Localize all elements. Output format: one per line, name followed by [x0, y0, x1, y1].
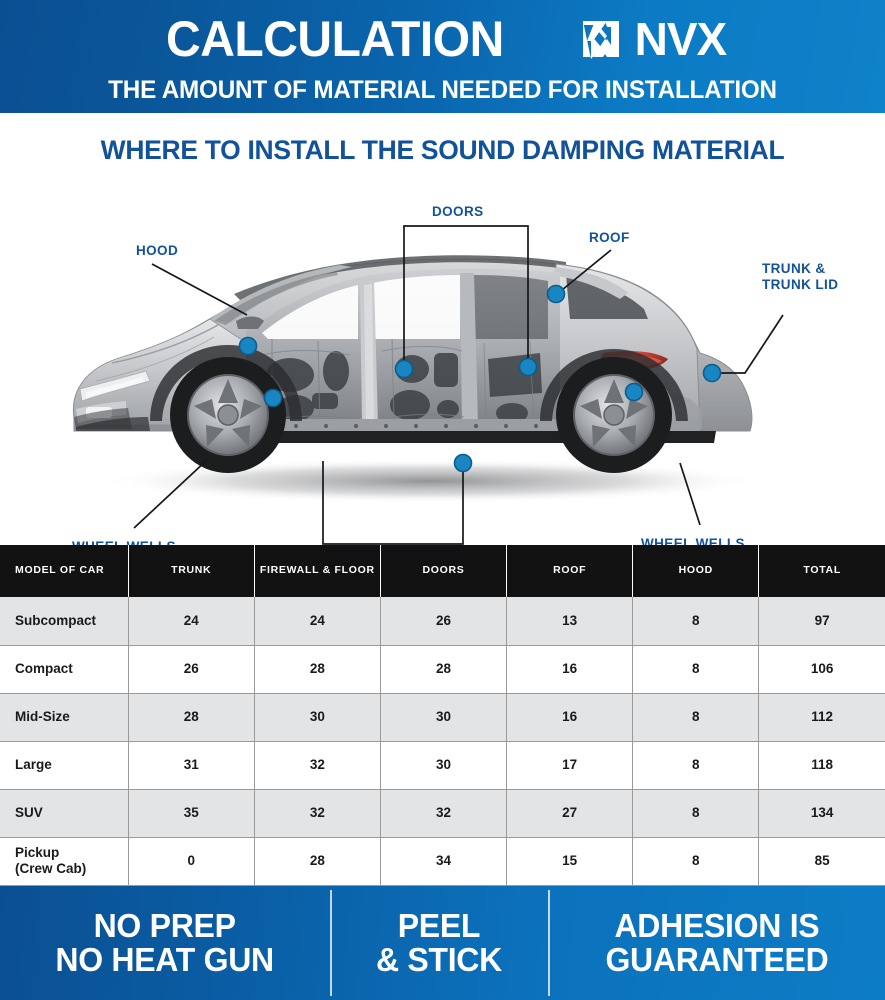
front-wheel	[170, 357, 286, 473]
dot-firewall-floor	[455, 455, 472, 472]
table-row: Pickup (Crew Cab) 0 28 34 15 8 85	[0, 837, 885, 885]
cell-total: 97	[759, 597, 885, 645]
cell-doors: 26	[380, 597, 506, 645]
cell-roof: 16	[507, 693, 633, 741]
brand-name: NVX	[635, 16, 727, 62]
table-row: Compact 26 28 28 16 8 106	[0, 645, 885, 693]
cell-roof: 16	[507, 645, 633, 693]
cell-trunk: 26	[128, 645, 254, 693]
cell-model: Large	[0, 741, 128, 789]
col-header-firewall-floor: FIREWALL & FLOOR	[254, 545, 380, 597]
footer-text: PEEL & STICK	[376, 909, 502, 978]
col-header-trunk: TRUNK	[128, 545, 254, 597]
infographic-page: CALCULATION NVX THE AMOUNT OF MATERIAL N…	[0, 0, 885, 1000]
cell-model: Pickup (Crew Cab)	[0, 837, 128, 885]
table-body: Subcompact 24 24 26 13 8 97 Compact 26 2…	[0, 597, 885, 885]
col-header-roof: ROOF	[507, 545, 633, 597]
car-body	[73, 255, 752, 473]
section-title: WHERE TO INSTALL THE SOUND DAMPING MATER…	[9, 135, 876, 166]
page-title: CALCULATION	[166, 14, 504, 64]
cell-model: Compact	[0, 645, 128, 693]
rear-wheel	[556, 357, 672, 473]
dot-wheelwell-rear	[626, 384, 643, 401]
cell-firewall-floor: 28	[254, 837, 380, 885]
footer-cell-peel-stick: PEEL & STICK	[330, 886, 548, 1000]
dot-trunk	[704, 365, 721, 382]
col-header-model: MODEL OF CAR	[0, 545, 128, 597]
cell-model: Subcompact	[0, 597, 128, 645]
col-header-doors: DOORS	[380, 545, 506, 597]
callout-label-roof: ROOF	[589, 230, 630, 246]
header-banner: CALCULATION NVX THE AMOUNT OF MATERIAL N…	[0, 0, 885, 113]
header-title-row: CALCULATION NVX	[0, 8, 885, 70]
footer-banner: NO PREP NO HEAT GUN PEEL & STICK ADHESIO…	[0, 886, 885, 1000]
table-header: MODEL OF CAR TRUNK FIREWALL & FLOOR DOOR…	[0, 545, 885, 597]
table-row: Large 31 32 30 17 8 118	[0, 741, 885, 789]
header-subtitle: THE AMOUNT OF MATERIAL NEEDED FOR INSTAL…	[13, 76, 871, 105]
callout-label-hood: HOOD	[136, 243, 178, 259]
table-row: SUV 35 32 32 27 8 134	[0, 789, 885, 837]
dot-door-rear	[520, 359, 537, 376]
cell-doors: 32	[380, 789, 506, 837]
cell-hood: 8	[633, 837, 759, 885]
cell-firewall-floor: 32	[254, 741, 380, 789]
ground-shadow	[100, 459, 760, 503]
leader-trunk	[718, 315, 783, 373]
cell-hood: 8	[633, 645, 759, 693]
cell-roof: 15	[507, 837, 633, 885]
cell-firewall-floor: 32	[254, 789, 380, 837]
table-row: Subcompact 24 24 26 13 8 97	[0, 597, 885, 645]
col-header-total: TOTAL	[759, 545, 885, 597]
brand-logo: NVX	[581, 16, 727, 62]
callout-label-doors: DOORS	[432, 204, 484, 220]
dot-hood	[240, 338, 257, 355]
cell-doors: 28	[380, 645, 506, 693]
car-diagram: HOOD DOORS ROOF TRUNK & TRUNK LID WHEEL …	[0, 163, 885, 545]
cell-hood: 8	[633, 693, 759, 741]
cell-trunk: 31	[128, 741, 254, 789]
cell-roof: 13	[507, 597, 633, 645]
footer-cell-adhesion: ADHESION IS GUARANTEED	[548, 886, 885, 1000]
cell-total: 134	[759, 789, 885, 837]
material-table-section: MODEL OF CAR TRUNK FIREWALL & FLOOR DOOR…	[0, 545, 885, 886]
cell-firewall-floor: 30	[254, 693, 380, 741]
material-table: MODEL OF CAR TRUNK FIREWALL & FLOOR DOOR…	[0, 545, 885, 886]
callout-label-trunk: TRUNK & TRUNK LID	[762, 261, 838, 292]
cell-model: SUV	[0, 789, 128, 837]
cell-total: 112	[759, 693, 885, 741]
col-header-hood: HOOD	[633, 545, 759, 597]
cell-total: 106	[759, 645, 885, 693]
cell-firewall-floor: 24	[254, 597, 380, 645]
table-header-row: MODEL OF CAR TRUNK FIREWALL & FLOOR DOOR…	[0, 545, 885, 597]
cell-roof: 17	[507, 741, 633, 789]
cell-trunk: 35	[128, 789, 254, 837]
cell-model: Mid-Size	[0, 693, 128, 741]
cell-hood: 8	[633, 741, 759, 789]
leader-hood	[152, 264, 247, 315]
footer-text: ADHESION IS GUARANTEED	[605, 909, 828, 978]
cell-total: 85	[759, 837, 885, 885]
footer-cell-no-prep: NO PREP NO HEAT GUN	[0, 886, 330, 1000]
dot-wheelwell-front	[265, 390, 282, 407]
dot-roof	[548, 286, 565, 303]
cell-firewall-floor: 28	[254, 645, 380, 693]
cell-doors: 34	[380, 837, 506, 885]
cell-trunk: 0	[128, 837, 254, 885]
footer-text: NO PREP NO HEAT GUN	[56, 909, 275, 978]
diagram-section: WHERE TO INSTALL THE SOUND DAMPING MATER…	[0, 113, 885, 545]
cell-hood: 8	[633, 597, 759, 645]
cell-total: 118	[759, 741, 885, 789]
nvx-chevron-mark-icon	[581, 19, 633, 59]
table-row: Mid-Size 28 30 30 16 8 112	[0, 693, 885, 741]
cell-trunk: 28	[128, 693, 254, 741]
cell-doors: 30	[380, 741, 506, 789]
dot-door-front	[396, 361, 413, 378]
cell-hood: 8	[633, 789, 759, 837]
cell-trunk: 24	[128, 597, 254, 645]
cell-doors: 30	[380, 693, 506, 741]
cell-roof: 27	[507, 789, 633, 837]
